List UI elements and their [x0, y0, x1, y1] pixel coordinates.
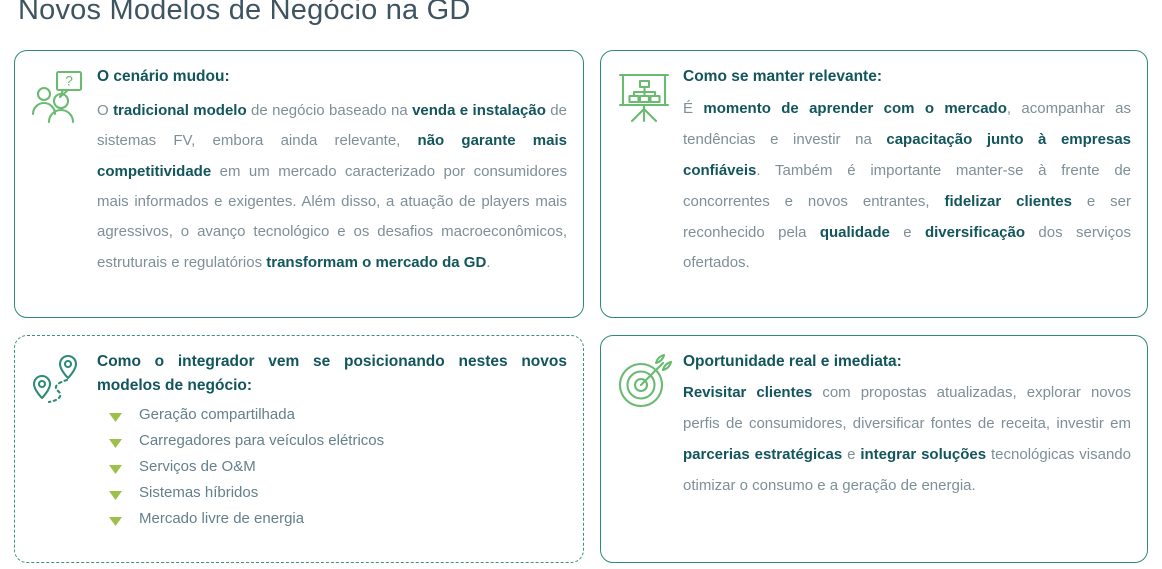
- body-text: e: [890, 224, 925, 241]
- card-relevance-body: Como se manter relevante: É momento de a…: [683, 65, 1131, 279]
- emphasis-text: transformam o mercado da GD: [266, 254, 486, 271]
- emphasis-text: qualidade: [820, 224, 890, 241]
- card-opportunity-body: Oportunidade real e imediata: Revisitar …: [683, 350, 1131, 502]
- slide-root: Novos Modelos de Negócio na GD ? O cenár…: [0, 0, 1162, 569]
- card-relevance: Como se manter relevante: É momento de a…: [600, 50, 1148, 318]
- emphasis-text: integrar soluções: [860, 446, 986, 463]
- card-opportunity-text: Revisitar clientes com propostas atualiz…: [683, 378, 1131, 502]
- triangle-down-icon: [109, 436, 122, 445]
- card-opportunity: Oportunidade real e imediata: Revisitar …: [600, 335, 1148, 563]
- card-scenario-text: O tradicional modelo de negócio baseado …: [97, 96, 567, 278]
- body-text: e: [842, 446, 860, 463]
- card-integrator-heading: Como o integrador vem se posicionando ne…: [97, 350, 567, 398]
- list-item: Mercado livre de energia: [97, 505, 567, 531]
- card-integrator: Como o integrador vem se posicionando ne…: [14, 335, 584, 563]
- presentation-chart-icon: [615, 69, 673, 127]
- card-scenario-body: O cenário mudou: O tradicional modelo de…: [97, 65, 567, 278]
- list-item: Serviços de O&M: [97, 453, 567, 479]
- emphasis-text: venda e instalação: [412, 102, 546, 119]
- page-title: Novos Modelos de Negócio na GD: [18, 0, 471, 27]
- list-item: Geração compartilhada: [97, 401, 567, 427]
- card-relevance-text: É momento de aprender com o mercado, aco…: [683, 94, 1131, 279]
- triangle-down-icon: [109, 462, 122, 471]
- route-pins-icon: [29, 354, 87, 412]
- list-item-label: Geração compartilhada: [139, 407, 567, 422]
- emphasis-text: parcerias estratégicas: [683, 446, 842, 463]
- card-integrator-body: Como o integrador vem se posicionando ne…: [97, 350, 567, 531]
- emphasis-text: fidelizar clientes: [945, 193, 1072, 210]
- svg-text:?: ?: [65, 73, 73, 89]
- list-item-label: Carregadores para veículos elétricos: [139, 433, 567, 448]
- triangle-down-icon: [109, 488, 122, 497]
- target-arrow-icon: [615, 354, 673, 412]
- cards-grid: ? O cenário mudou: O tradicional modelo …: [14, 50, 1148, 563]
- list-item-label: Sistemas híbridos: [139, 485, 567, 500]
- body-text: É: [683, 100, 703, 117]
- emphasis-text: tradicional modelo: [113, 102, 247, 119]
- card-scenario-heading: O cenário mudou:: [97, 65, 567, 89]
- triangle-down-icon: [109, 514, 122, 523]
- body-text: .: [486, 254, 490, 271]
- list-item: Sistemas híbridos: [97, 479, 567, 505]
- list-item-label: Mercado livre de energia: [139, 511, 567, 526]
- emphasis-text: diversificação: [925, 224, 1025, 241]
- body-text: de negócio baseado na: [247, 102, 412, 119]
- card-scenario: ? O cenário mudou: O tradicional modelo …: [14, 50, 584, 318]
- integrator-bullet-list: Geração compartilhadaCarregadores para v…: [97, 401, 567, 531]
- triangle-down-icon: [109, 410, 122, 419]
- list-item: Carregadores para veículos elétricos: [97, 427, 567, 453]
- emphasis-text: Revisitar clientes: [683, 384, 812, 401]
- list-item-label: Serviços de O&M: [139, 459, 567, 474]
- card-opportunity-heading: Oportunidade real e imediata:: [683, 350, 1131, 374]
- card-relevance-heading: Como se manter relevante:: [683, 65, 1131, 89]
- people-question-icon: ?: [29, 69, 87, 127]
- emphasis-text: momento de aprender com o mercado: [703, 100, 1007, 117]
- body-text: O: [97, 102, 113, 119]
